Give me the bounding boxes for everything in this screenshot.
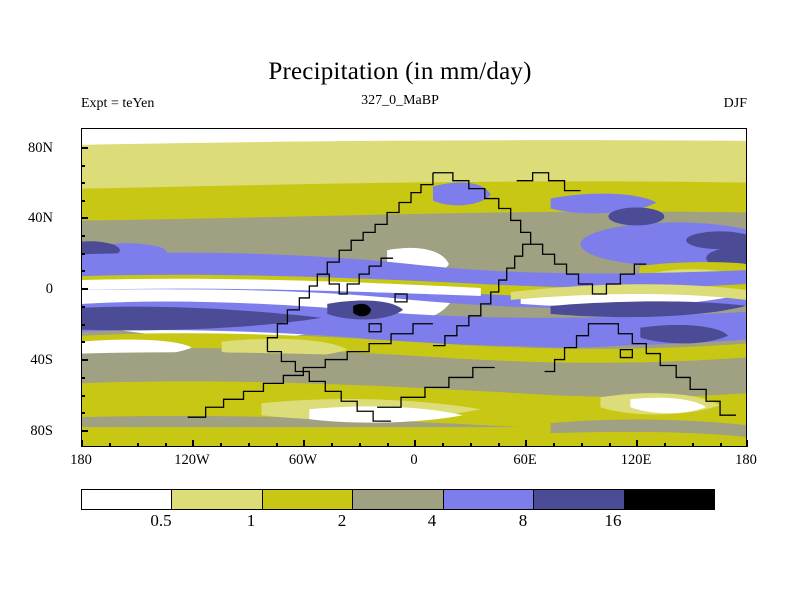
- y-tick-minor: [81, 253, 85, 255]
- x-tick-minor: [276, 443, 278, 447]
- x-axis-label-120e: 120E: [606, 452, 666, 469]
- colorbar-band-3: [352, 490, 442, 509]
- x-tick-minor: [137, 443, 139, 447]
- y-axis-label-40s: 40S: [0, 352, 53, 369]
- colorbar-label-0: 0.5: [136, 511, 186, 531]
- colorbar-label-4: 8: [498, 511, 548, 531]
- x-tick-minor: [498, 443, 500, 447]
- y-tick-0: [81, 288, 88, 290]
- y-axis-label-80n: 80N: [0, 140, 53, 157]
- x-axis-label-120w: 120W: [162, 452, 222, 469]
- x-tick-0: [414, 440, 416, 447]
- colorbar-band-6: [624, 490, 714, 509]
- x-axis-label-0: 0: [384, 452, 444, 469]
- y-tick-40s: [81, 359, 88, 361]
- experiment-label: Expt = teYen: [81, 96, 154, 112]
- x-axis-label-60e: 60E: [495, 452, 555, 469]
- y-axis-label-0: 0: [0, 281, 53, 298]
- colorbar-band-4: [443, 490, 533, 509]
- precipitation-contour-field: [82, 129, 746, 446]
- y-tick-minor: [81, 182, 85, 184]
- y-tick-80n: [81, 147, 88, 149]
- x-axis-label-180e: 180: [716, 452, 776, 469]
- y-axis-label-40n: 40N: [0, 210, 53, 227]
- y-tick-minor: [81, 200, 85, 202]
- precipitation-map-figure: Precipitation (in mm/day) 327_0_MaBP Exp…: [0, 0, 800, 600]
- colorbar-band-5: [533, 490, 623, 509]
- colorbar-label-3: 4: [407, 511, 457, 531]
- x-tick-minor: [720, 443, 722, 447]
- x-tick-minor: [220, 443, 222, 447]
- x-tick-minor: [331, 443, 333, 447]
- colorbar-label-2: 2: [317, 511, 367, 531]
- x-tick-180w: [81, 440, 83, 447]
- y-tick-minor: [81, 235, 85, 237]
- x-axis-label-180w: 180: [51, 452, 111, 469]
- x-tick-minor: [359, 443, 361, 447]
- x-tick-120e: [636, 440, 638, 447]
- x-tick-180e: [746, 440, 748, 447]
- x-tick-minor: [581, 443, 583, 447]
- y-tick-80s: [81, 430, 88, 432]
- x-tick-minor: [109, 443, 111, 447]
- x-tick-minor: [609, 443, 611, 447]
- x-tick-minor: [165, 443, 167, 447]
- y-tick-40n: [81, 217, 88, 219]
- colorbar-band-1: [171, 490, 261, 509]
- y-tick-minor: [81, 165, 85, 167]
- x-tick-120w: [192, 440, 194, 447]
- x-tick-minor: [387, 443, 389, 447]
- colorbar-label-5: 16: [588, 511, 638, 531]
- x-tick-minor: [553, 443, 555, 447]
- colorbar-label-1: 1: [226, 511, 276, 531]
- y-tick-minor: [81, 324, 85, 326]
- x-tick-minor: [664, 443, 666, 447]
- colorbar-band-0: [82, 490, 171, 509]
- y-tick-minor: [81, 395, 85, 397]
- y-tick-minor: [81, 377, 85, 379]
- map-plot-area: [81, 128, 747, 447]
- x-axis-label-60w: 60W: [273, 452, 333, 469]
- y-axis-label-80s: 80S: [0, 423, 53, 440]
- y-tick-minor: [81, 341, 85, 343]
- x-tick-60w: [303, 440, 305, 447]
- x-tick-minor: [442, 443, 444, 447]
- x-tick-60e: [525, 440, 527, 447]
- x-tick-minor: [692, 443, 694, 447]
- x-tick-minor: [248, 443, 250, 447]
- y-tick-minor: [81, 412, 85, 414]
- x-tick-minor: [470, 443, 472, 447]
- colorbar-band-2: [262, 490, 352, 509]
- y-tick-minor: [81, 270, 85, 272]
- page-title: Precipitation (in mm/day): [0, 58, 800, 86]
- y-tick-minor: [81, 306, 85, 308]
- season-label: DJF: [724, 96, 747, 112]
- colorbar-legend: [81, 489, 715, 510]
